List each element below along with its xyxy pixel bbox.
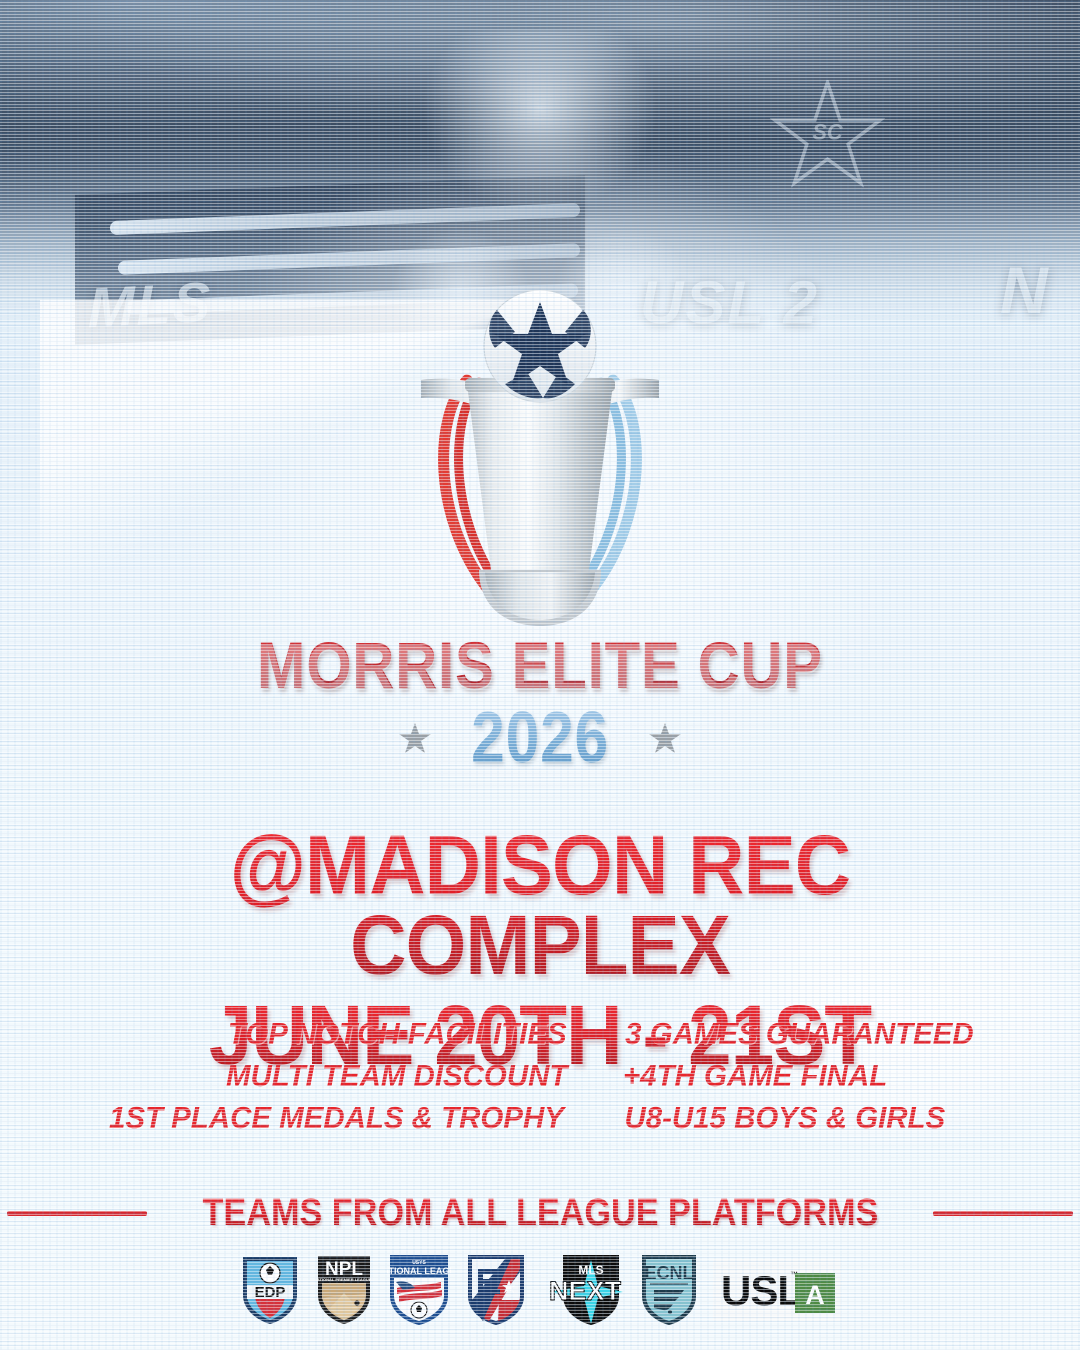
mls-next-logo-sup: MLS: [578, 1263, 603, 1277]
banner-rule-right: [933, 1211, 1073, 1216]
leagues-banner: TEAMS FROM ALL LEAGUE PLATFORMS: [0, 1194, 1080, 1232]
trophy-graphic: [375, 288, 705, 648]
title-block: MORRIS ELITE CUP 2026: [0, 632, 1080, 774]
background-sponsor-star-icon: SC: [770, 80, 885, 190]
league-logo-row: EDP NPL NATIONAL PREMIER LEAGUES USYS NA…: [0, 1252, 1080, 1328]
background-sponsor-star-label: SC: [812, 120, 843, 145]
banner-rule-left: [7, 1211, 147, 1216]
feature-item: 3 GAMES GUARANTEED: [625, 1018, 974, 1049]
npl-logo-sub: NATIONAL PREMIER LEAGUES: [315, 1277, 373, 1282]
event-title: MORRIS ELITE CUP: [65, 632, 1015, 698]
banner-text: TEAMS FROM ALL LEAGUE PLATFORMS: [202, 1194, 878, 1232]
feature-item: U8-U15 BOYS & GIRLS: [624, 1102, 945, 1133]
feature-item: +4TH GAME FINAL: [623, 1060, 887, 1091]
star-left-icon: [398, 722, 432, 755]
feature-item: 1ST PLACE MEDALS & TROPHY: [109, 1102, 564, 1133]
usl-academy-logo: USL ™ A: [713, 1259, 841, 1321]
feature-item: TOP NOTCH FACILITIES: [228, 1018, 567, 1049]
usys-national-logo-label: NATIONAL LEAGUE: [387, 1266, 451, 1276]
features-right-column: 3 GAMES GUARANTEED +4TH GAME FINAL U8-U1…: [616, 1018, 983, 1133]
mls-next-logo: MLS NEXT: [541, 1252, 625, 1328]
year-row: 2026: [0, 702, 1080, 774]
mls-next-logo-label: NEXT: [549, 1276, 622, 1306]
event-year: 2026: [471, 702, 609, 774]
tournament-flyer: MLS USL 2 N SC: [0, 0, 1080, 1350]
features-block: TOP NOTCH FACILITIES MULTI TEAM DISCOUNT…: [0, 1018, 1080, 1133]
ecnl-logo-label: ECNL: [645, 1263, 694, 1283]
usl-academy-logo-sub: A: [805, 1280, 825, 1310]
edp-logo: EDP: [239, 1253, 301, 1327]
star-right-icon: [648, 722, 682, 755]
venue-line: @MADISON REC COMPLEX: [38, 826, 1042, 986]
ea-logo: [465, 1252, 527, 1328]
edp-logo-label: EDP: [255, 1284, 286, 1301]
features-left-column: TOP NOTCH FACILITIES MULTI TEAM DISCOUNT…: [97, 1018, 576, 1133]
usys-national-logo: USYS NATIONAL LEAGUE: [387, 1252, 451, 1328]
ecnl-logo: ECNL: [639, 1252, 699, 1328]
feature-item: MULTI TEAM DISCOUNT: [226, 1060, 567, 1091]
npl-logo: NPL NATIONAL PREMIER LEAGUES: [315, 1253, 373, 1327]
